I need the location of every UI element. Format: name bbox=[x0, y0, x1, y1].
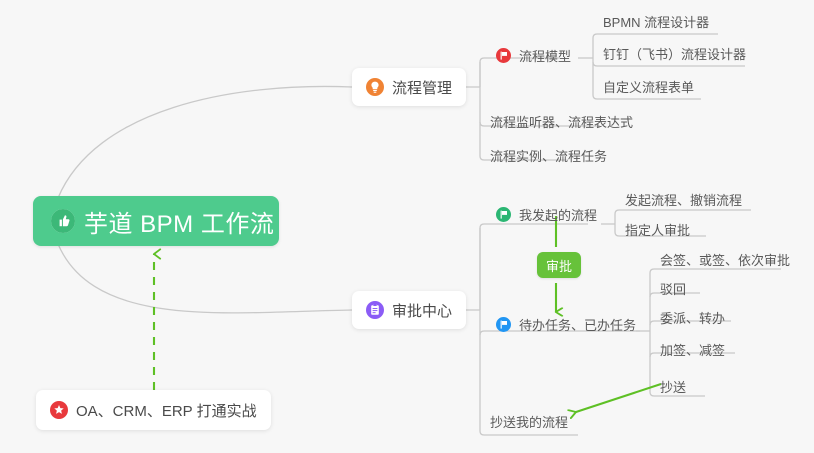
branch-label: 流程管理 bbox=[392, 77, 452, 98]
leaf-label: 流程监听器、流程表达式 bbox=[490, 112, 633, 131]
approval-chip[interactable]: 审批 bbox=[537, 252, 581, 278]
leaf-start-cancel-process[interactable]: 发起流程、撤销流程 bbox=[625, 188, 742, 210]
leaf-label: 驳回 bbox=[660, 279, 686, 298]
flag-green-icon bbox=[496, 207, 511, 222]
leaf-bpmn-designer[interactable]: BPMN 流程设计器 bbox=[603, 10, 709, 32]
leaf-countersign[interactable]: 会签、或签、依次审批 bbox=[660, 248, 790, 270]
leaf-label: 钉钉（飞书）流程设计器 bbox=[603, 44, 746, 63]
leaf-process-model[interactable]: 流程模型 bbox=[496, 44, 571, 66]
leaf-label: 抄送我的流程 bbox=[490, 412, 568, 431]
leaf-label: 抄送 bbox=[660, 377, 686, 396]
leaf-reject[interactable]: 驳回 bbox=[660, 277, 686, 299]
flag-blue-icon bbox=[496, 317, 511, 332]
leaf-label: 我发起的流程 bbox=[519, 205, 597, 224]
leaf-assignee-approval[interactable]: 指定人审批 bbox=[625, 218, 690, 240]
leaf-label: 会签、或签、依次审批 bbox=[660, 250, 790, 269]
leaf-label: 加签、减签 bbox=[660, 340, 725, 359]
lightbulb-icon bbox=[366, 78, 384, 96]
leaf-cc[interactable]: 抄送 bbox=[660, 375, 686, 397]
root-node[interactable]: 芋道 BPM 工作流 bbox=[33, 196, 279, 246]
leaf-label: 流程实例、流程任务 bbox=[490, 146, 607, 165]
leaf-label: 委派、转办 bbox=[660, 308, 725, 327]
branch-label: 审批中心 bbox=[392, 300, 452, 321]
leaf-label: 指定人审批 bbox=[625, 220, 690, 239]
flag-red-icon bbox=[496, 48, 511, 63]
leaf-custom-form[interactable]: 自定义流程表单 bbox=[603, 75, 694, 97]
leaf-delegate-transfer[interactable]: 委派、转办 bbox=[660, 306, 725, 328]
star-icon bbox=[50, 401, 68, 419]
root-label: 芋道 BPM 工作流 bbox=[84, 204, 274, 239]
leaf-todo-done-tasks[interactable]: 待办任务、已办任务 bbox=[496, 313, 636, 335]
leaf-add-remove-sign[interactable]: 加签、减签 bbox=[660, 338, 725, 360]
thumbs-up-icon bbox=[51, 209, 75, 233]
clipboard-icon bbox=[366, 301, 384, 319]
branch-node-process-management[interactable]: 流程管理 bbox=[352, 68, 466, 106]
leaf-label: BPMN 流程设计器 bbox=[603, 12, 709, 31]
leaf-process-listener[interactable]: 流程监听器、流程表达式 bbox=[490, 110, 633, 132]
note-label: OA、CRM、ERP 打通实战 bbox=[76, 400, 257, 421]
leaf-label: 待办任务、已办任务 bbox=[519, 315, 636, 334]
leaf-cc-to-me[interactable]: 抄送我的流程 bbox=[490, 410, 568, 432]
branch-node-approval-center[interactable]: 审批中心 bbox=[352, 291, 466, 329]
leaf-label: 自定义流程表单 bbox=[603, 77, 694, 96]
leaf-label: 发起流程、撤销流程 bbox=[625, 190, 742, 209]
leaf-label: 流程模型 bbox=[519, 46, 571, 65]
leaf-my-started-process[interactable]: 我发起的流程 bbox=[496, 203, 597, 225]
note-node-integration[interactable]: OA、CRM、ERP 打通实战 bbox=[36, 390, 271, 430]
leaf-process-instance[interactable]: 流程实例、流程任务 bbox=[490, 144, 607, 166]
leaf-dingtalk-designer[interactable]: 钉钉（飞书）流程设计器 bbox=[603, 42, 746, 64]
mindmap-canvas: 芋道 BPM 工作流 流程管理 流程模型 流程监听器、流程表达式 流程实例、流 bbox=[0, 0, 814, 453]
approval-chip-label: 审批 bbox=[546, 256, 572, 275]
